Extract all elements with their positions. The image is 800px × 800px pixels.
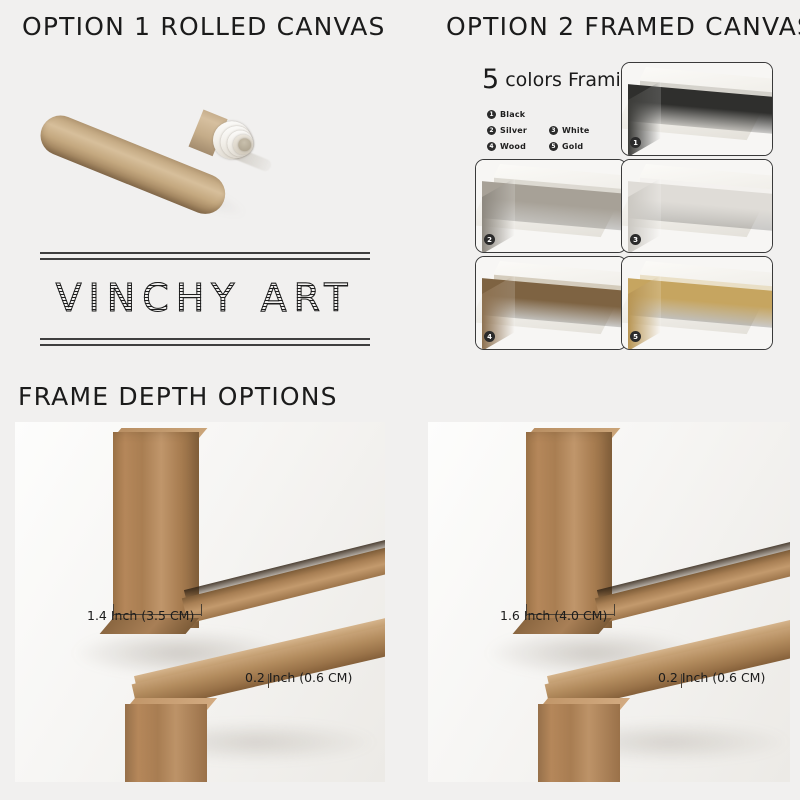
swatch-badge-3: 3 bbox=[630, 234, 641, 245]
swatch-badge-4: 4 bbox=[484, 331, 495, 342]
frame-swatch-grid: 1 2 3 bbox=[475, 62, 797, 358]
frame-corner-photo bbox=[476, 257, 626, 349]
swatch-badge-1: 1 bbox=[630, 137, 641, 148]
frame-upper-rail bbox=[182, 526, 385, 624]
infographic-canvas: OPTION 1 ROLLED CANVAS OPTION 2 FRAMED C… bbox=[0, 0, 800, 800]
heading-frame-depth: FRAME DEPTH OPTIONS bbox=[18, 382, 338, 411]
logo-rule-bottom-outer bbox=[40, 344, 370, 346]
frame-lower-post bbox=[538, 704, 620, 782]
frame-swatch-silver[interactable]: 2 bbox=[475, 159, 627, 253]
rolled-canvas-photo bbox=[28, 70, 298, 220]
logo-rule-top-outer bbox=[40, 252, 370, 254]
frame-lower-post bbox=[125, 704, 207, 782]
dimension-label-thickness: 0.2 Inch (0.6 CM) bbox=[658, 670, 765, 685]
frame-corner-photo bbox=[622, 63, 772, 155]
frame-corner-photo bbox=[622, 257, 772, 349]
swatch-badge-2: 2 bbox=[484, 234, 495, 245]
frame-swatch-black[interactable]: 1 bbox=[621, 62, 773, 156]
dimension-tick bbox=[201, 604, 202, 616]
frame-swatch-gold[interactable]: 5 bbox=[621, 256, 773, 350]
frame-corner-photo bbox=[476, 160, 626, 252]
frame-swatch-wood[interactable]: 4 bbox=[475, 256, 627, 350]
heading-option-1: OPTION 1 ROLLED CANVAS bbox=[22, 12, 386, 41]
frame-corner-photo bbox=[622, 160, 772, 252]
brand-logo: VINCHY ART bbox=[40, 252, 370, 352]
frame-swatch-white[interactable]: 3 bbox=[621, 159, 773, 253]
dimension-tick bbox=[614, 604, 615, 616]
dimension-label-depth: 1.6 Inch (4.0 CM) bbox=[500, 608, 607, 623]
heading-option-2: OPTION 2 FRAMED CANVAS bbox=[446, 12, 800, 41]
dimension-label-depth: 1.4 Inch (3.5 CM) bbox=[87, 608, 194, 623]
frame-upper-rail bbox=[595, 526, 790, 624]
depth-photo-left: 1.4 Inch (3.5 CM) 0.2 Inch (0.6 CM) bbox=[15, 422, 385, 782]
swatch-badge-5: 5 bbox=[630, 331, 641, 342]
logo-rule-top-inner bbox=[40, 258, 370, 260]
dimension-label-thickness: 0.2 Inch (0.6 CM) bbox=[245, 670, 352, 685]
depth-photo-right: 1.6 Inch (4.0 CM) 0.2 Inch (0.6 CM) bbox=[428, 422, 790, 782]
logo-rule-bottom-inner bbox=[40, 338, 370, 340]
brand-name: VINCHY ART bbox=[40, 276, 370, 320]
